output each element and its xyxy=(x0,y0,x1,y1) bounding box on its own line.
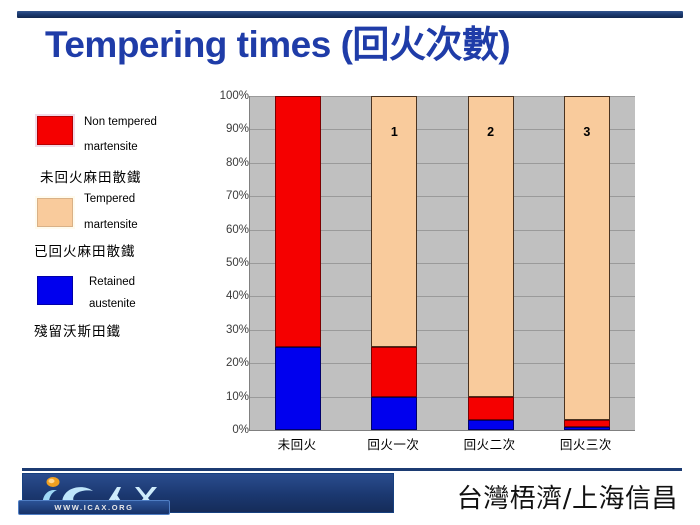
bar-column[interactable] xyxy=(275,96,321,430)
x-axis-tick-label: 回火三次 xyxy=(538,434,634,453)
legend-label-line2: martensite xyxy=(84,136,138,158)
bar-segment[interactable] xyxy=(468,96,514,397)
y-axis-tick-label: 30% xyxy=(226,324,249,336)
bar-value-label: 1 xyxy=(371,125,417,139)
x-axis-tick-label: 未回火 xyxy=(249,434,345,453)
bar-segment[interactable] xyxy=(468,420,514,430)
bar-segment[interactable] xyxy=(275,347,321,431)
y-axis-tick-label: 90% xyxy=(226,123,249,135)
y-axis: 100%90%80%70%60%50%40%30%20%10%0% xyxy=(216,90,249,430)
x-axis: 未回火回火一次回火二次回火三次 xyxy=(249,434,635,456)
x-axis-line xyxy=(249,430,635,431)
y-axis-tick-label: 10% xyxy=(226,391,249,403)
y-axis-tick-label: 60% xyxy=(226,224,249,236)
bar-value-label: 3 xyxy=(564,125,610,139)
legend-label-line1: Retained xyxy=(89,271,135,293)
y-axis-tick-label: 100% xyxy=(220,90,249,102)
bar-segment[interactable] xyxy=(564,420,610,427)
legend-label-line2: austenite xyxy=(89,293,136,315)
y-axis-tick-label: 80% xyxy=(226,157,249,169)
legend-label-cjk: 未回火麻田散鐵 xyxy=(40,166,142,186)
bar-value-label: 2 xyxy=(468,125,514,139)
footer-organization-label: 台灣梧濟/上海信昌 xyxy=(457,478,678,515)
y-axis-tick-label: 70% xyxy=(226,190,249,202)
bar-segment[interactable] xyxy=(371,347,417,397)
y-axis-tick-label: 50% xyxy=(226,257,249,269)
legend-item-non-tempered-martensite: Non tempered martensite 未回火麻田散鐵 xyxy=(26,110,216,188)
legend-label-line1: Non tempered xyxy=(84,111,157,133)
chart-legend: Non tempered martensite 未回火麻田散鐵 Tempered… xyxy=(26,110,216,344)
logo-url-label: WWW.ICAX.ORG xyxy=(18,500,170,515)
legend-swatch-peach-icon xyxy=(37,198,73,227)
y-axis-tick-label: 20% xyxy=(226,357,249,369)
bar-segment[interactable] xyxy=(371,397,417,430)
y-axis-tick-label: 40% xyxy=(226,290,249,302)
x-axis-tick-label: 回火一次 xyxy=(345,434,441,453)
plot-area: 123 xyxy=(249,96,635,430)
footer-divider xyxy=(22,468,682,471)
bar-segment[interactable] xyxy=(275,96,321,347)
bar-segment[interactable] xyxy=(468,397,514,420)
y-axis-tick-label: 0% xyxy=(232,424,249,436)
bar-segment[interactable] xyxy=(564,96,610,420)
stacked-bar-chart: 100%90%80%70%60%50%40%30%20%10%0% 123 未回… xyxy=(216,90,640,440)
bar-column[interactable]: 1 xyxy=(371,96,417,430)
bar-column[interactable]: 2 xyxy=(468,96,514,430)
legend-label-cjk: 已回火麻田散鐵 xyxy=(34,240,136,260)
legend-item-tempered-martensite: Tempered martensite 已回火麻田散鐵 xyxy=(26,188,216,268)
page-title: Tempering times (回火次數) xyxy=(45,26,510,63)
bar-column[interactable]: 3 xyxy=(564,96,610,430)
legend-label-line1: Tempered xyxy=(84,188,135,210)
legend-label-cjk: 殘留沃斯田鐵 xyxy=(34,320,121,340)
legend-swatch-red-icon xyxy=(37,116,73,145)
x-axis-tick-label: 回火二次 xyxy=(442,434,538,453)
legend-item-retained-austenite: Retained austenite 殘留沃斯田鐵 xyxy=(26,268,216,344)
top-divider-bar xyxy=(17,11,683,18)
legend-label-line2: martensite xyxy=(84,214,138,236)
legend-swatch-blue-icon xyxy=(37,276,73,305)
